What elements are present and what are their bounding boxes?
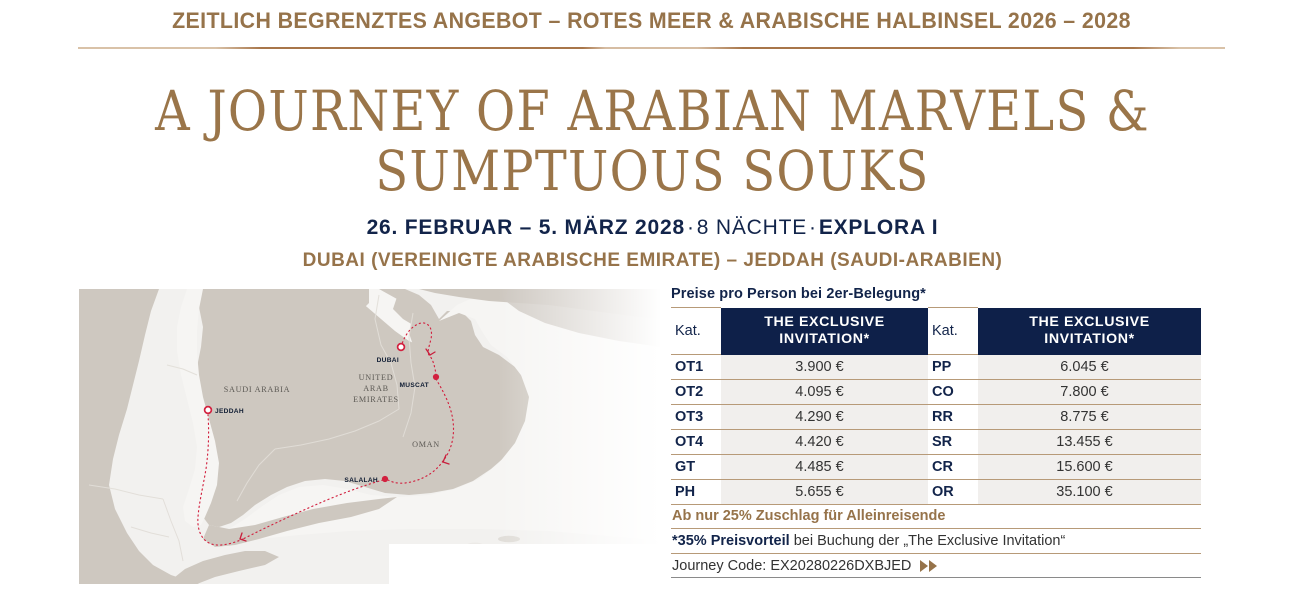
journey-code-value: EX20280226DXBJED	[770, 558, 911, 574]
journey-code-label: Journey Code:	[672, 558, 766, 574]
discount-note-rest: bei Buchung der „The Exclusive Invitatio…	[790, 533, 1066, 549]
discount-note-highlight: *35% Preisvorteil	[672, 533, 790, 549]
cell-price-right: 35.100 €	[978, 480, 1201, 505]
cell-kat-right: CR	[928, 455, 978, 480]
map-bottom-mask	[389, 544, 661, 584]
table-row: PH 5.655 € OR 35.100 €	[671, 480, 1201, 505]
cell-kat-right: CO	[928, 380, 978, 405]
cell-kat-left: GT	[671, 455, 721, 480]
table-row: OT2 4.095 € CO 7.800 €	[671, 380, 1201, 405]
table-row: OT4 4.420 € SR 13.455 €	[671, 430, 1201, 455]
map-fade-overlay	[79, 289, 661, 584]
cell-price-left: 5.655 €	[721, 480, 928, 505]
date-separator-1: ·	[685, 216, 697, 239]
cell-kat-right: SR	[928, 430, 978, 455]
table-row: GT 4.485 € CR 15.600 €	[671, 455, 1201, 480]
promo-eyebrow-text: ZEITLICH BEGRENZTES ANGEBOT – ROTES MEER…	[95, 8, 1208, 34]
journey-code-text: Journey Code: EX20280226DXBJED	[672, 558, 911, 574]
voyage-dates: 26. FEBRUAR – 5. MÄRZ 2028	[367, 216, 685, 239]
cell-price-left: 3.900 €	[721, 355, 928, 380]
double-chevron-right-icon[interactable]	[920, 560, 937, 572]
header-offer-right-line1: THE EXCLUSIVE	[1029, 314, 1150, 330]
cell-price-right: 8.775 €	[978, 405, 1201, 430]
voyage-nights: 8 NÄCHTE	[697, 216, 807, 239]
voyage-date-line: 26. FEBRUAR – 5. MÄRZ 2028·8 NÄCHTE·EXPL…	[0, 216, 1305, 240]
cell-price-left: 4.290 €	[721, 405, 928, 430]
header-kat-right: Kat.	[928, 308, 978, 355]
header-offer-right-line2: INVITATION*	[1044, 331, 1134, 347]
price-table-body: OT1 3.900 € PP 6.045 € OT2 4.095 € CO 7.…	[671, 355, 1201, 505]
page-title: A JOURNEY OF ARABIAN MARVELS & SUMPTUOUS…	[52, 82, 1253, 202]
cell-kat-left: PH	[671, 480, 721, 505]
cell-price-left: 4.095 €	[721, 380, 928, 405]
cell-price-right: 13.455 €	[978, 430, 1201, 455]
voyage-ship: EXPLORA I	[819, 216, 939, 239]
voyage-map[interactable]: SAUDI ARABIA UNITED ARAB EMIRATES OMAN D…	[79, 289, 661, 584]
cell-kat-right: OR	[928, 480, 978, 505]
price-table-header-row: Kat. THE EXCLUSIVE INVITATION* Kat. THE …	[671, 308, 1201, 355]
cell-price-right: 7.800 €	[978, 380, 1201, 405]
headline-block: A JOURNEY OF ARABIAN MARVELS & SUMPTUOUS…	[0, 82, 1305, 272]
date-separator-2: ·	[807, 216, 819, 239]
header-offer-left-line1: THE EXCLUSIVE	[764, 314, 885, 330]
table-row: OT3 4.290 € RR 8.775 €	[671, 405, 1201, 430]
header-offer-right: THE EXCLUSIVE INVITATION*	[978, 308, 1201, 355]
page-title-line-2: SUMPTUOUS SOUKS	[52, 142, 1253, 202]
cell-kat-left: OT3	[671, 405, 721, 430]
journey-code-row[interactable]: Journey Code: EX20280226DXBJED	[671, 554, 1201, 578]
cell-kat-left: OT1	[671, 355, 721, 380]
price-panel-title: Preise pro Person bei 2er-Belegung*	[671, 286, 1201, 302]
cell-kat-left: OT4	[671, 430, 721, 455]
single-supplement-note: Ab nur 25% Zuschlag für Alleinreisende	[671, 505, 1201, 529]
header-offer-left: THE EXCLUSIVE INVITATION*	[721, 308, 928, 355]
page-title-line-1: A JOURNEY OF ARABIAN MARVELS &	[52, 82, 1253, 142]
price-panel: Preise pro Person bei 2er-Belegung* Kat.…	[671, 286, 1201, 578]
price-table: Kat. THE EXCLUSIVE INVITATION* Kat. THE …	[671, 307, 1201, 505]
banner-divider	[78, 47, 1225, 49]
cell-kat-right: RR	[928, 405, 978, 430]
voyage-route-line: DUBAI (VEREINIGTE ARABISCHE EMIRATE) – J…	[0, 250, 1305, 272]
cell-kat-right: PP	[928, 355, 978, 380]
cell-price-left: 4.420 €	[721, 430, 928, 455]
promo-banner: ZEITLICH BEGRENZTES ANGEBOT – ROTES MEER…	[78, 8, 1225, 49]
cell-kat-left: OT2	[671, 380, 721, 405]
header-offer-left-line2: INVITATION*	[779, 331, 869, 347]
cell-price-right: 15.600 €	[978, 455, 1201, 480]
header-kat-left: Kat.	[671, 308, 721, 355]
discount-note: *35% Preisvorteil bei Buchung der „The E…	[671, 529, 1201, 554]
cell-price-right: 6.045 €	[978, 355, 1201, 380]
cell-price-left: 4.485 €	[721, 455, 928, 480]
table-row: OT1 3.900 € PP 6.045 €	[671, 355, 1201, 380]
